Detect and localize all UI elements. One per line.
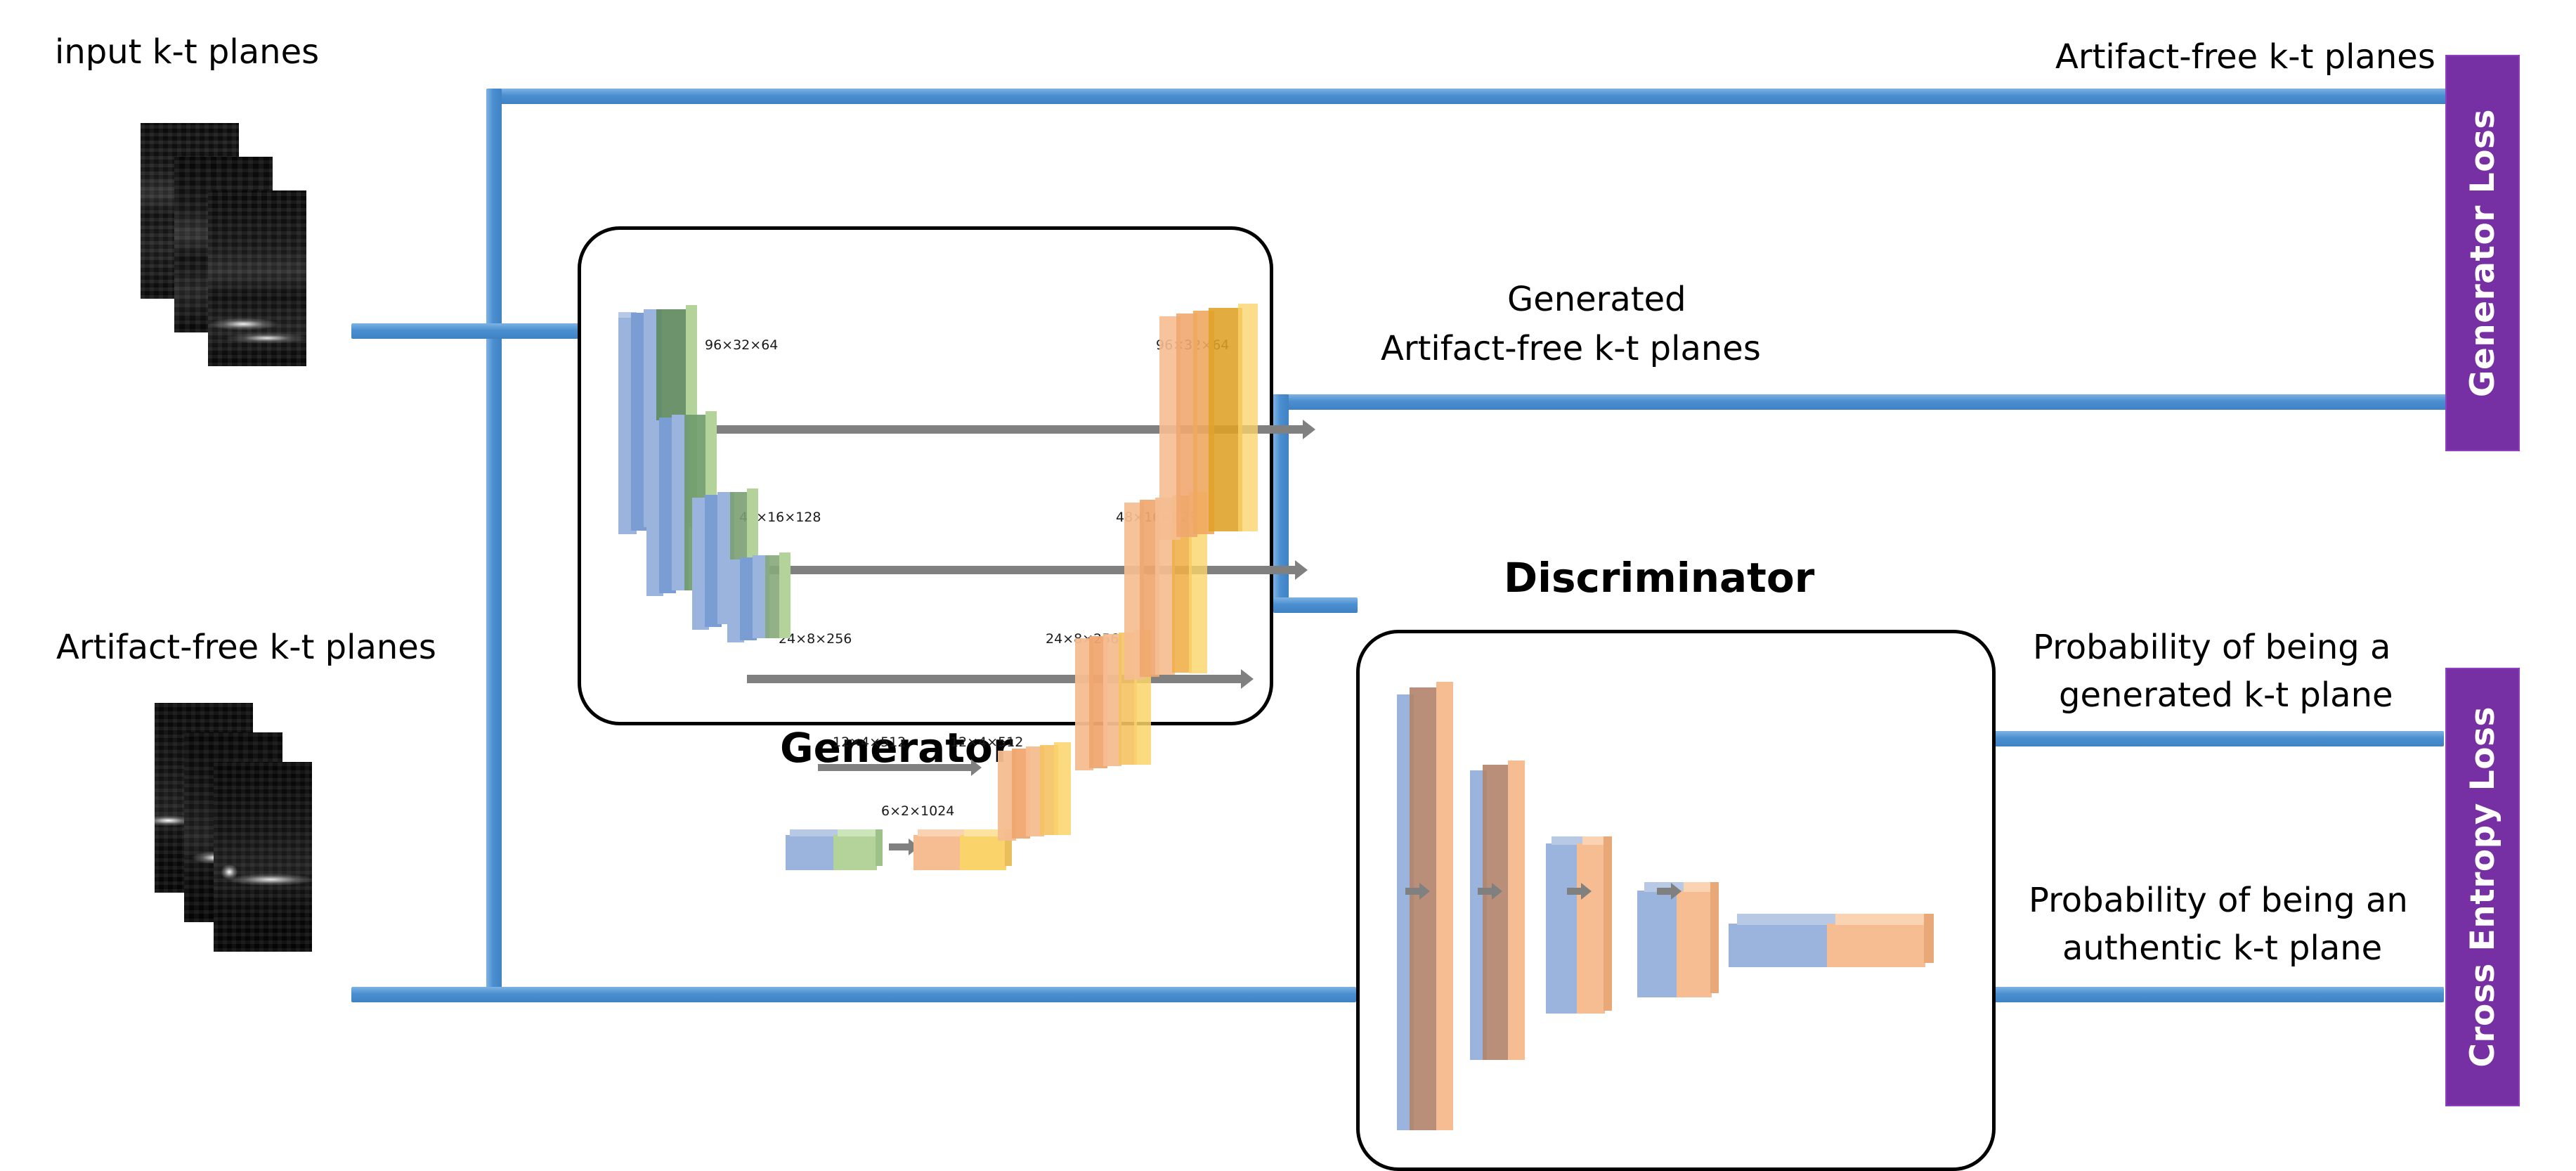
cross-entropy-loss-bar: Cross Entropy Loss [2445,668,2520,1106]
label-prob-authentic-line1: Probability of being an [2029,882,2408,920]
pipe-bottom-authentic [351,987,1356,1002]
pipe-generated-into-discriminator [1273,597,1358,613]
decoder-block-1 [1159,308,1272,547]
bottleneck-dim: 6×2×1024 [881,803,954,819]
label-artifact-free-kt-planes-left: Artifact-free k-t planes [56,629,436,667]
pipe-prob-generated [1986,731,2444,746]
discriminator-arrow-2 [1478,888,1493,895]
discriminator-layer-2 [1470,765,1537,1067]
encoder-block-4 [727,555,805,647]
discriminator-arrow-4 [1657,888,1672,895]
discriminator-layer-4 [1637,882,1722,1002]
label-artifact-free-kt-planes-top: Artifact-free k-t planes [2055,39,2435,77]
discriminator-layer-5 [1729,914,1953,977]
generator-loss-bar: Generator Loss [2445,55,2520,451]
discriminator-title: Discriminator [1504,555,1814,601]
label-generated-line1: Generated [1507,281,1686,319]
discriminator-layer-3 [1546,836,1623,1019]
label-generated-line2: Artifact-free k-t planes [1381,330,1761,368]
encoder-dim-1: 96×32×64 [705,337,778,353]
cross-entropy-loss-label: Cross Entropy Loss [2464,706,2502,1068]
label-prob-generated-line1: Probability of being a [2033,629,2390,667]
bottleneck-arrow [889,843,910,850]
kt-plane-image [214,762,312,952]
pipe-top-artifact-free [486,89,2447,104]
pipe-input-to-generator [351,323,597,339]
label-prob-authentic-line2: authentic k-t plane [2062,930,2382,968]
pipe-generated-to-generator-loss [1258,394,2447,410]
artifact-free-kt-plane-stack [155,703,379,935]
bottleneck-arrow-mid [818,764,972,771]
pipe-prob-authentic [1986,987,2444,1002]
input-kt-plane-stack [141,123,365,334]
generator-loss-label: Generator Loss [2464,109,2502,397]
pipe-left-trunk [486,89,502,1002]
label-prob-generated-line2: generated k-t plane [2059,677,2393,715]
discriminator-arrow-1 [1405,888,1421,895]
discriminator-arrow-3 [1567,888,1582,895]
label-input-kt-planes: input k-t planes [55,34,319,72]
discriminator-layer-1 [1397,687,1464,1137]
encoder-dim-4: 12×4×512 [833,735,906,750]
kt-plane-image [208,190,306,366]
bottleneck-encoder-block [786,829,884,870]
